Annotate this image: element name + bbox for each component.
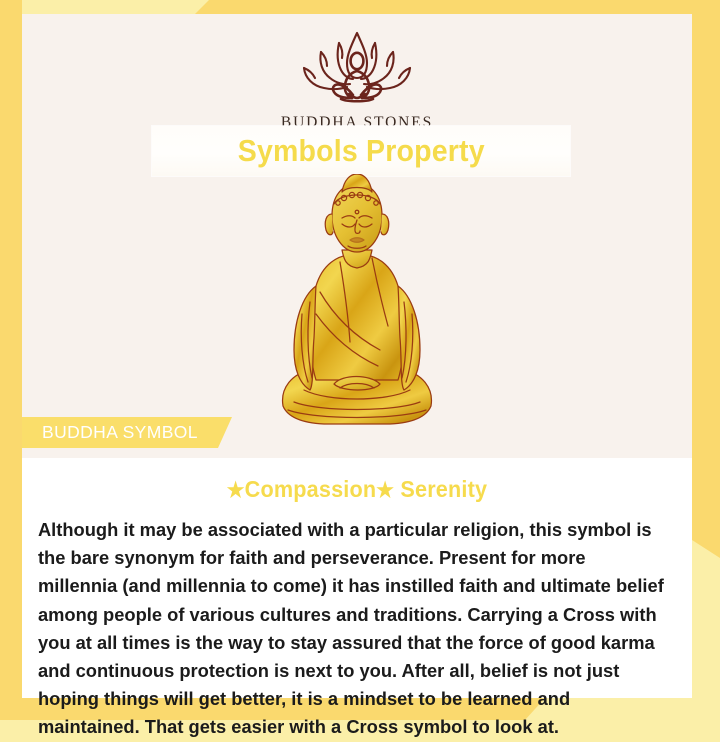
brand-logo: BUDDHA STONES xyxy=(281,28,433,132)
star-icon-two: ★ xyxy=(376,478,394,503)
seated-golden-buddha-illustration xyxy=(250,174,464,436)
content-paragraph: Although it may be associated with a par… xyxy=(34,516,670,742)
hero-image xyxy=(22,174,692,444)
buddha-symbol-tag: BUDDHA SYMBOL xyxy=(22,417,232,448)
subtitle-word-serenity: Serenity xyxy=(400,476,487,502)
frame-band-left xyxy=(0,0,22,700)
subtitle-word-compassion: Compassion xyxy=(245,476,377,502)
content-subtitle: ★Compassion★ Serenity xyxy=(53,476,660,503)
frame-band-top xyxy=(195,0,720,14)
page-panel: BUDDHA STONES Symbols Property xyxy=(22,14,692,698)
frame-band-right xyxy=(692,0,720,558)
title-banner: Symbols Property xyxy=(152,126,570,176)
content-card: ★Compassion★ Serenity Although it may be… xyxy=(22,458,692,698)
lotus-meditation-icon xyxy=(281,28,433,106)
buddha-symbol-tag-label: BUDDHA SYMBOL xyxy=(22,422,198,443)
page-title: Symbols Property xyxy=(237,133,484,169)
star-icon-one: ★ xyxy=(227,478,245,503)
